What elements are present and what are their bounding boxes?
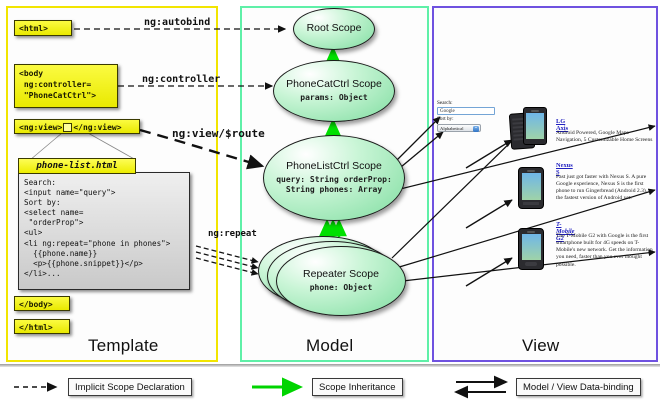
scope-repeater: Repeater Scope phone: Object — [276, 246, 406, 316]
sort-select-value: Alphabetical — [440, 126, 463, 131]
ngview-close-tag: </ng:view> — [73, 123, 121, 132]
ngview-open-tag: <ng:view> — [19, 123, 62, 132]
column-label-model: Model — [306, 336, 353, 356]
label-ng-view-route: ng:view/$route — [172, 127, 265, 140]
body-tag-box: <body ng:controller= "PhoneCatCtrl"> — [14, 64, 118, 108]
legend-item-inheritance: Scope Inheritance — [312, 378, 403, 396]
search-input[interactable]: Google — [437, 107, 495, 115]
body-close-box: </body> — [14, 296, 70, 311]
scope-phonelistctrl-label: PhoneListCtrl Scope — [286, 161, 382, 173]
chevron-down-icon — [473, 126, 479, 132]
scope-root: Root Scope — [293, 8, 375, 50]
note-code: Search: <input name="query"> Sort by: <s… — [18, 172, 190, 290]
scope-phonelistctrl: PhoneListCtrl Scope query: String orderP… — [263, 135, 405, 221]
scope-phonecatctrl-props: params: Object — [300, 93, 367, 103]
phone-thumbnail-1 — [514, 167, 550, 211]
scope-phonecatctrl-label: PhoneCatCtrl Scope — [286, 79, 382, 91]
sort-label: Sort by: — [437, 116, 497, 123]
phone-desc-0: Android Powered, Google Maps Navigation,… — [556, 130, 654, 144]
html-tag-box: <html> — [14, 20, 72, 36]
html-close-box: </html> — [14, 319, 70, 334]
legend-item-databinding: Model / View Data-binding — [516, 378, 641, 396]
phone-thumbnail-2 — [514, 228, 550, 272]
sort-select[interactable]: Alphabetical — [437, 124, 481, 132]
phone-desc-2: The T-Mobile G2 with Google is the first… — [556, 233, 654, 269]
scope-phonecatctrl: PhoneCatCtrl Scope params: Object — [273, 60, 395, 122]
column-label-template: Template — [88, 336, 159, 356]
ngview-tag-box: <ng:view></ng:view> — [14, 119, 140, 134]
legend-bar: Implicit Scope Declaration Scope Inherit… — [0, 368, 660, 405]
column-label-view: View — [522, 336, 559, 356]
legend-separator — [0, 364, 660, 367]
scope-phonelistctrl-props: query: String orderProp: String phones: … — [264, 175, 404, 195]
scope-root-label: Root Scope — [307, 23, 362, 35]
legend-item-implicit: Implicit Scope Declaration — [68, 378, 192, 396]
phone-list-template-note: phone-list.html Search: <input name="que… — [18, 158, 190, 293]
search-sort-widget: Search: Google Sort by: Alphabetical — [437, 100, 497, 132]
scope-repeater-stack: Repeater Scope phone: Object — [258, 236, 406, 316]
label-ng-repeat: ng:repeat — [208, 229, 257, 239]
diagram-canvas: <html> <body ng:controller= "PhoneCatCtr… — [0, 0, 660, 405]
phone-thumbnail-0 — [510, 107, 546, 151]
phone-desc-1: Fast just got faster with Nexus S. A pur… — [556, 174, 654, 203]
label-ng-controller: ng:controller — [142, 74, 220, 85]
search-label: Search: — [437, 100, 497, 107]
scope-repeater-props: phone: Object — [310, 283, 373, 293]
note-title: phone-list.html — [18, 158, 136, 174]
scope-repeater-label: Repeater Scope — [303, 269, 379, 281]
ngview-placeholder-icon — [63, 123, 72, 132]
label-ng-autobind: ng:autobind — [144, 17, 210, 28]
